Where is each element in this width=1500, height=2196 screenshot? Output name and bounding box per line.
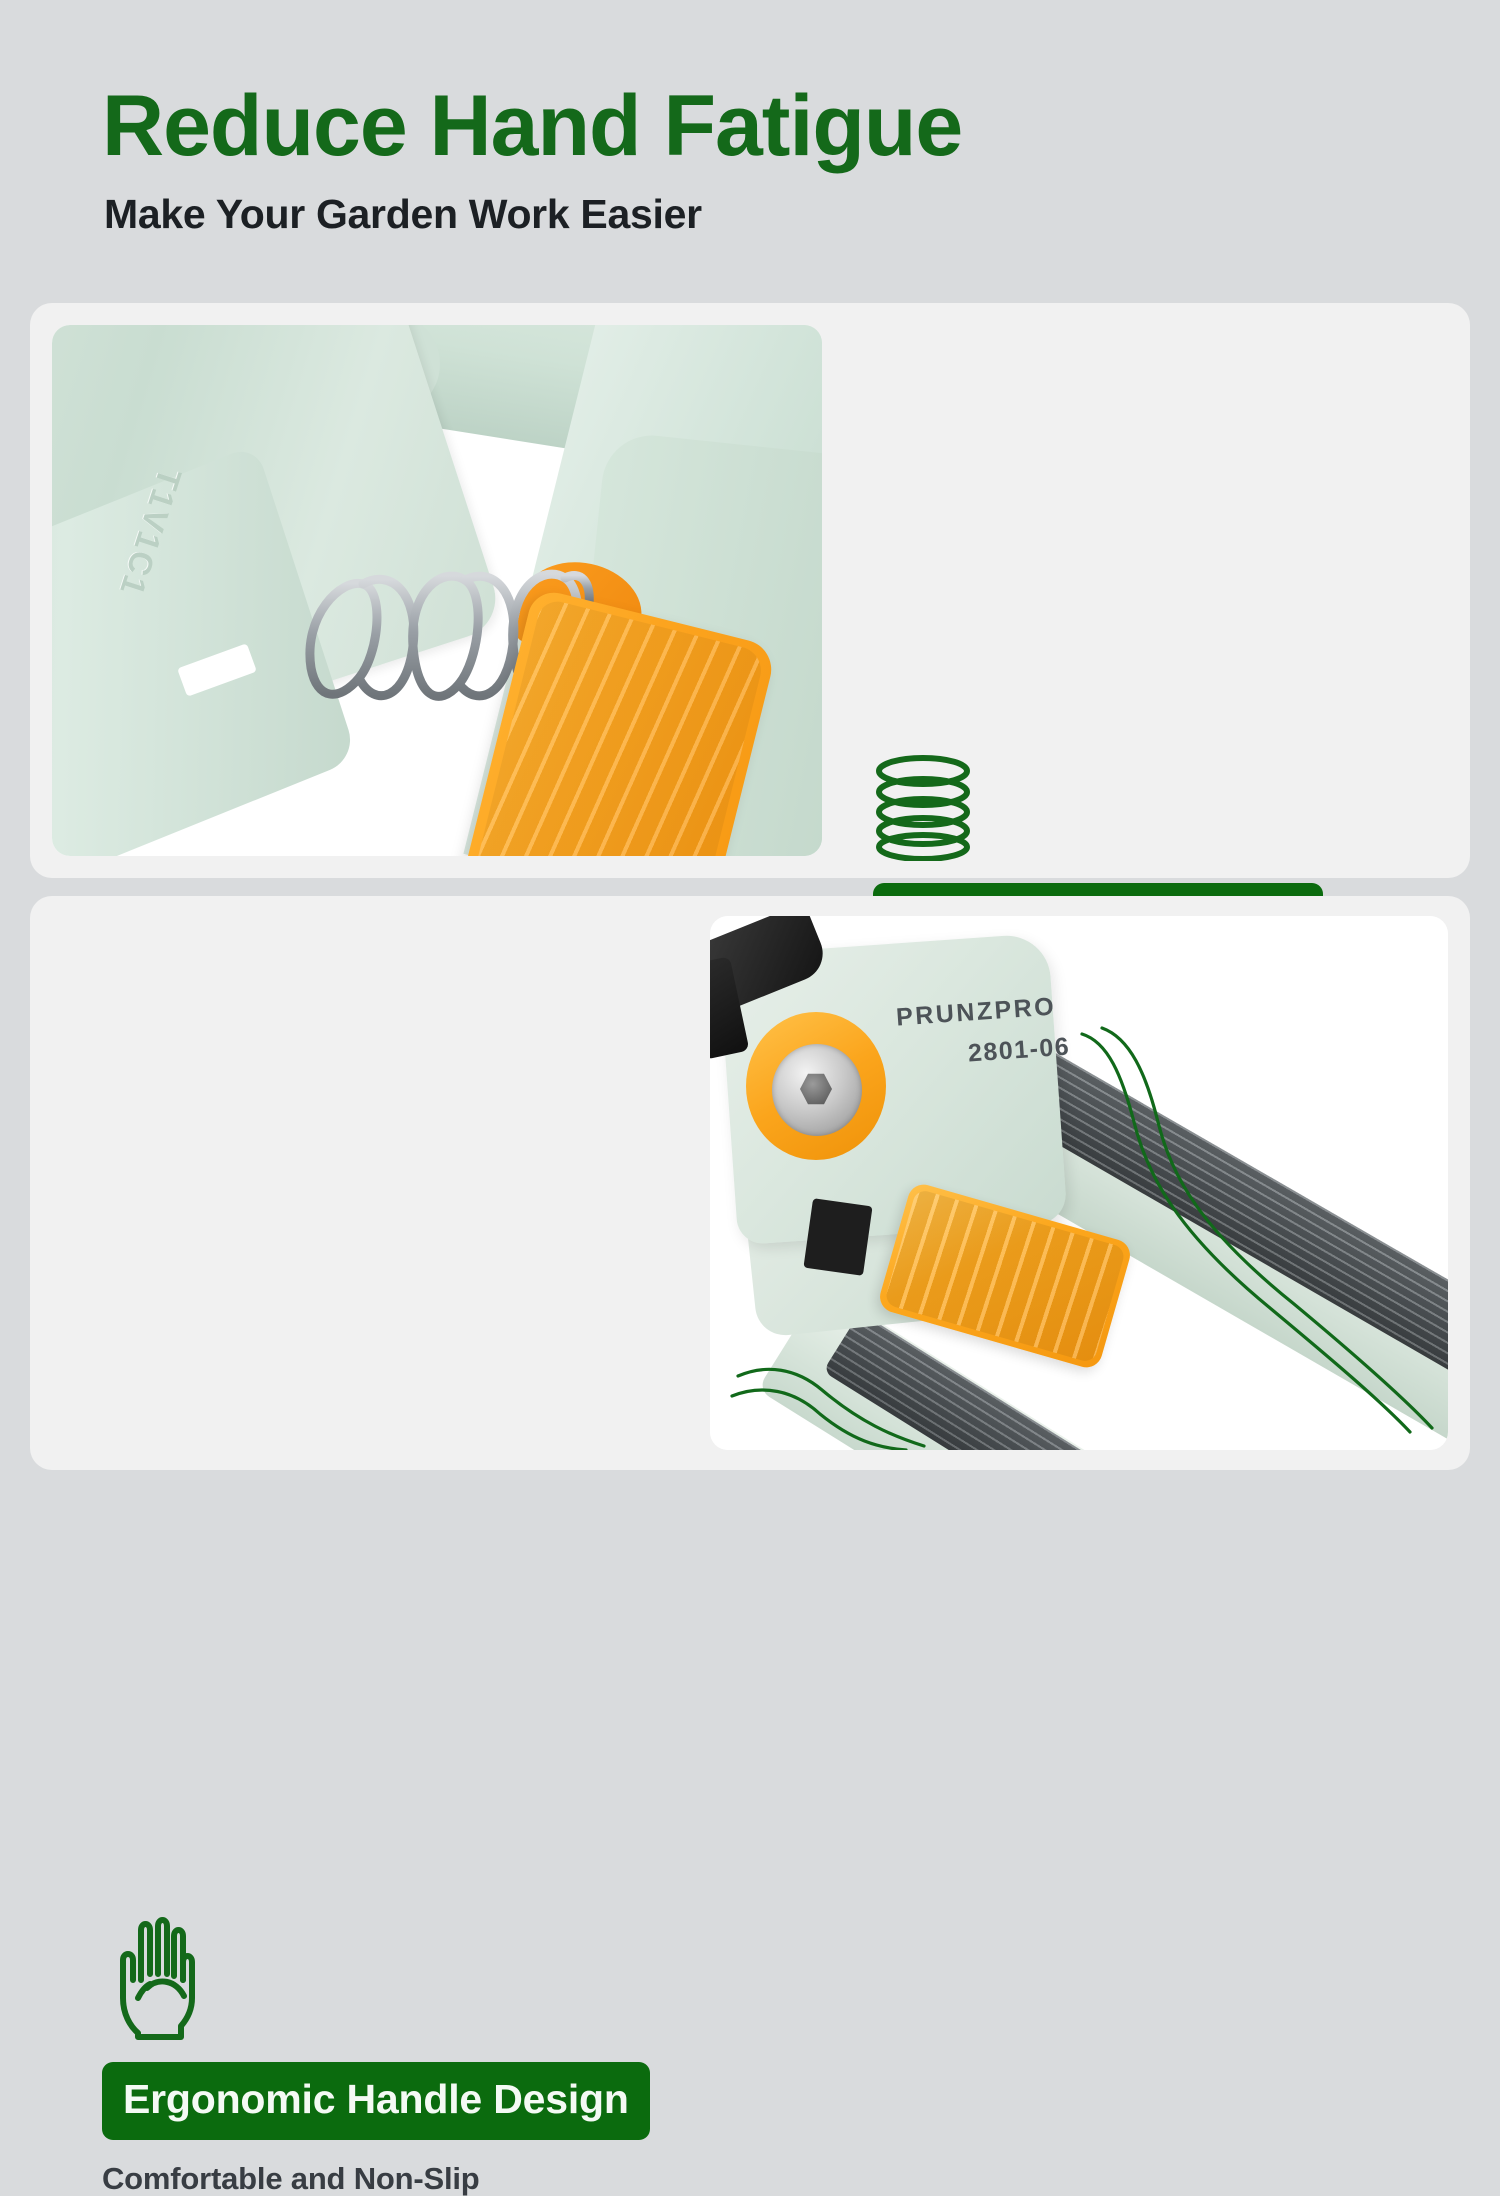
spring-coil-icon xyxy=(873,755,1413,861)
page-title: Reduce Hand Fatigue xyxy=(102,83,962,169)
page-header: Reduce Hand Fatigue Make Your Garden Wor… xyxy=(0,0,1500,280)
pruner-handle-photo: PRUNZPRO 2801-06 xyxy=(710,916,1448,1450)
feature-card-handle: Ergonomic Handle Design Comfortable and … xyxy=(30,896,1470,1470)
page-subtitle: Make Your Garden Work Easier xyxy=(104,194,702,235)
open-hand-icon xyxy=(102,1914,702,2040)
feature-badge-handle: Ergonomic Handle Design xyxy=(102,2062,650,2140)
feature-block-handle: Ergonomic Handle Design Comfortable and … xyxy=(102,1914,702,2194)
feature-caption-handle: Comfortable and Non-Slip xyxy=(102,2163,702,2194)
feature-card-spring: T1V1C1 xyxy=(30,303,1470,878)
latch-slot xyxy=(803,1198,872,1276)
spring-closeup-photo: T1V1C1 xyxy=(52,325,822,856)
